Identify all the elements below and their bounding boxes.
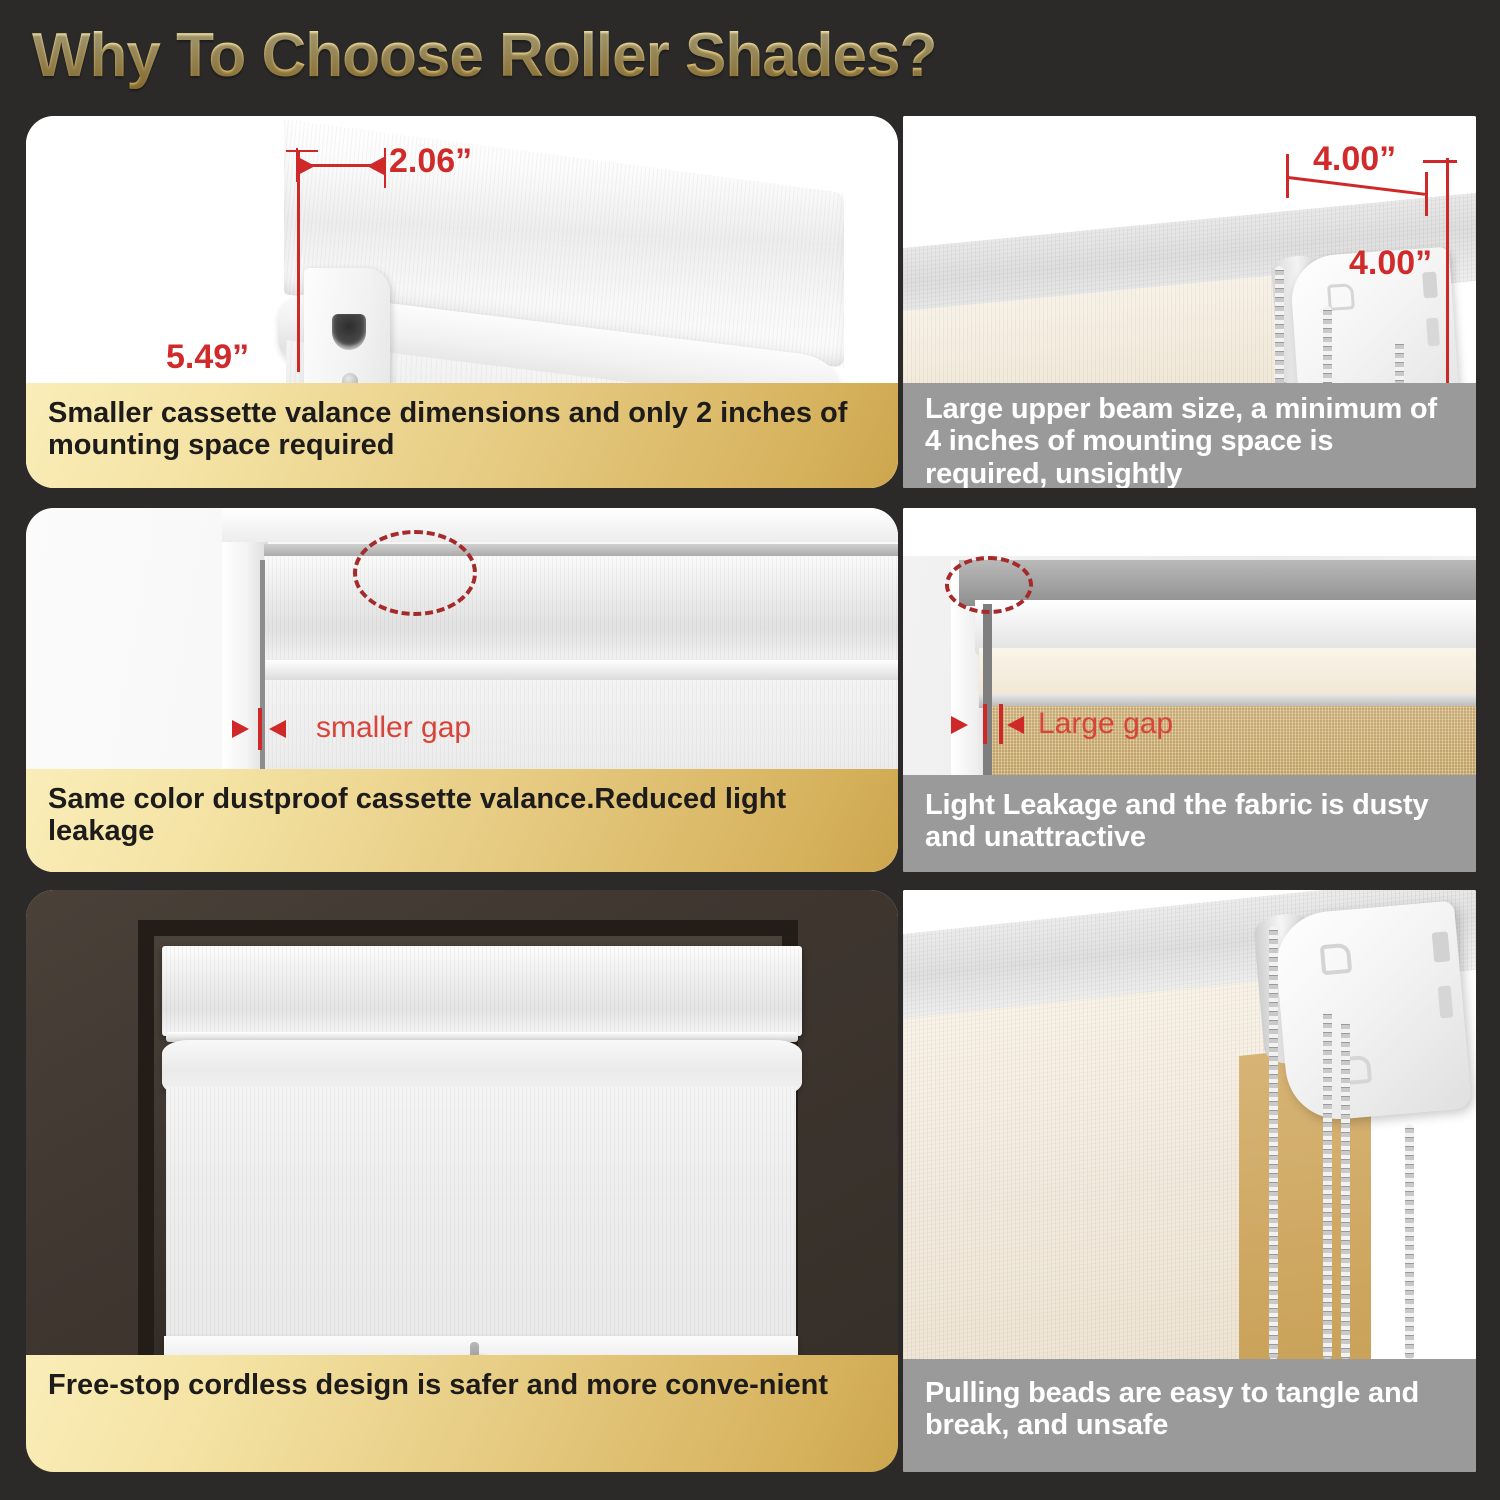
caption-bar-good: Smaller cassette valance dimensions and … <box>26 383 898 488</box>
caption-text: Same color dustproof cassette valance.Re… <box>48 783 878 848</box>
panel-large-upper-beam: 4.00” 4.00” Large upper beam size, a min… <box>903 116 1476 488</box>
caption-text: Pulling beads are easy to tangle and bre… <box>925 1377 1456 1442</box>
panel-pulling-beads: Pulling beads are easy to tangle and bre… <box>903 890 1476 1472</box>
dimension-label-width: 4.00” <box>1313 140 1396 179</box>
caption-text: Light Leakage and the fabric is dusty an… <box>925 789 1456 854</box>
highlight-circle-icon <box>945 556 1033 614</box>
dimension-label-height: 5.49” <box>166 338 249 377</box>
bracket-emboss-icon <box>1327 283 1355 311</box>
bead-chain <box>1341 1020 1350 1360</box>
caption-bar-bad: Light Leakage and the fabric is dusty an… <box>903 775 1476 872</box>
dimension-label-width: 2.06” <box>389 142 472 181</box>
caption-text: Large upper beam size, a minimum of 4 in… <box>925 393 1456 488</box>
endcap-opening-icon <box>332 314 366 350</box>
bead-chain <box>1405 1124 1414 1360</box>
panel-smaller-cassette: 2.06” 5.49” Smaller cassette valance dim… <box>26 116 898 488</box>
bead-chain <box>1269 926 1278 1360</box>
caption-text: Smaller cassette valance dimensions and … <box>48 397 878 462</box>
caption-bar-bad: Pulling beads are easy to tangle and bre… <box>903 1359 1476 1472</box>
panel-light-leakage: Large gap Light Leakage and the fabric i… <box>903 508 1476 872</box>
panel-dustproof-cassette: smaller gap Same color dustproof cassett… <box>26 508 898 872</box>
panel-cordless-design: Free-stop cordless design is safer and m… <box>26 890 898 1472</box>
caption-bar-good: Same color dustproof cassette valance.Re… <box>26 769 898 872</box>
caption-bar-bad: Large upper beam size, a minimum of 4 in… <box>903 383 1476 488</box>
caption-text: Free-stop cordless design is safer and m… <box>48 1369 828 1401</box>
bracket-emboss-icon <box>1320 943 1353 976</box>
caption-bar-good: Free-stop cordless design is safer and m… <box>26 1355 898 1472</box>
highlight-circle-icon <box>353 530 477 616</box>
dimension-label-height: 4.00” <box>1349 244 1432 283</box>
bead-chain <box>1323 1010 1332 1360</box>
header-bar: Why To Choose Roller Shades? <box>0 0 1500 112</box>
page-title: Why To Choose Roller Shades? <box>32 20 936 91</box>
gap-label: Large gap <box>1038 707 1173 741</box>
gap-label: smaller gap <box>316 711 471 745</box>
